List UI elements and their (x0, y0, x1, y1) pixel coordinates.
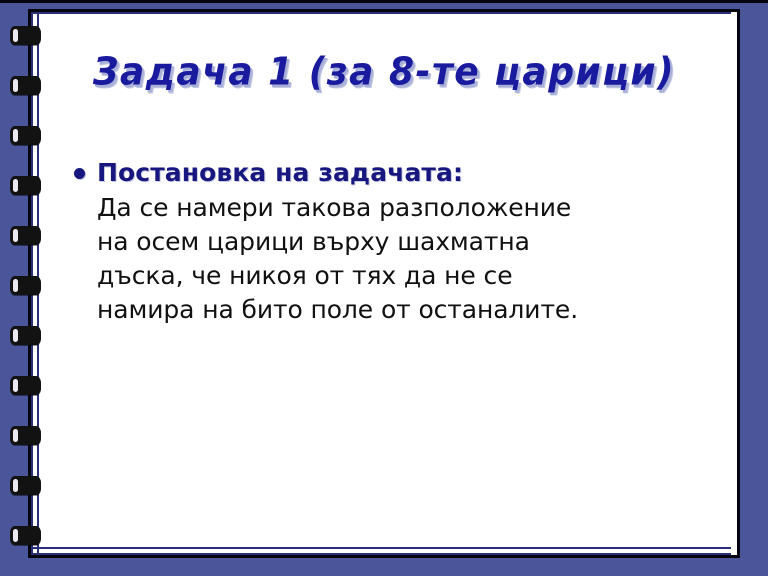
problem-statement-paragraph: Да се намери такова разположение на осем… (74, 191, 714, 327)
spiral-ring (10, 326, 41, 345)
spiral-ring (10, 176, 41, 195)
body-line: намира на бито поле от останалите. (97, 293, 714, 327)
spiral-ring (10, 526, 41, 545)
title-block: Задача 1 (за 8-те царици) (28, 52, 740, 93)
body-line: дъска, че никоя от тях да не се (97, 259, 714, 293)
slide-body: Постановка на задачата: Да се намери так… (74, 158, 714, 327)
spiral-ring (10, 426, 41, 445)
spiral-ring (10, 476, 41, 495)
spiral-ring (10, 126, 41, 145)
slide-title: Задача 1 (за 8-те царици) (93, 51, 675, 94)
spiral-ring (10, 26, 41, 45)
spiral-ring (10, 276, 41, 295)
spiral-ring (10, 376, 41, 395)
bullet-heading-row: Постановка на задачата: (74, 158, 714, 189)
problem-statement-heading: Постановка на задачата: (97, 158, 463, 189)
presentation-slide: Задача 1 (за 8-те царици) Постановка на … (0, 0, 768, 576)
body-line: на осем царици върху шахматна (97, 225, 714, 259)
body-line: Да се намери такова разположение (97, 191, 714, 225)
spiral-ring (10, 226, 41, 245)
bullet-icon (74, 168, 85, 179)
